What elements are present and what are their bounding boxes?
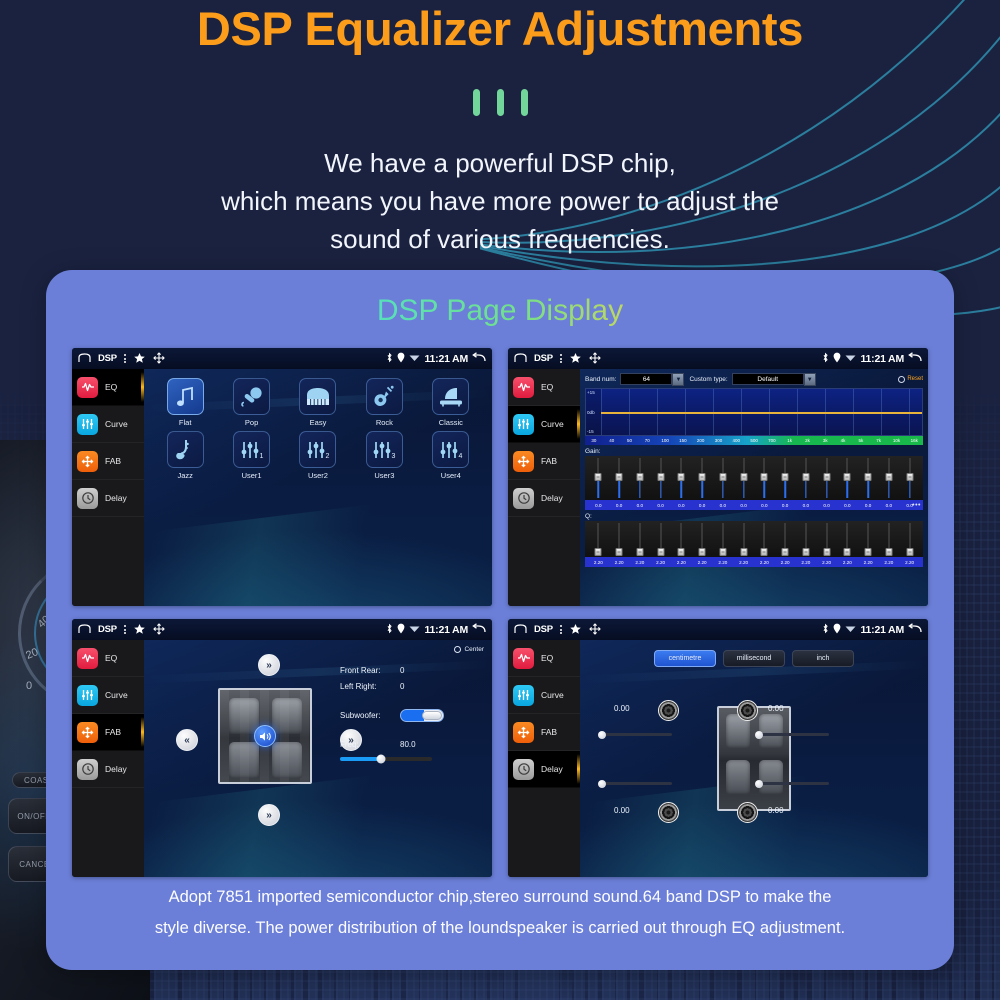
slider-knob[interactable]: [657, 548, 664, 556]
freq-tick-50: 50: [621, 438, 639, 443]
location-icon: [397, 623, 405, 636]
sidebar-item-eq[interactable]: EQ: [72, 640, 144, 677]
slider-knob[interactable]: [782, 548, 789, 556]
gain-section-label: Gain:: [585, 448, 923, 455]
freq-slider[interactable]: [340, 757, 432, 761]
building: [784, 970, 794, 1000]
freq-slider-wrap: [340, 757, 444, 761]
gain-value-8: 0.0: [733, 503, 754, 508]
q-slider-2[interactable]: [609, 521, 630, 557]
app-name-label: DSP: [98, 624, 117, 635]
q-value-14: 2.20: [858, 560, 879, 565]
left-right-label: Left Right:: [340, 682, 394, 691]
building: [560, 972, 572, 1000]
q-value-4: 2.20: [650, 560, 671, 565]
status-bar-left: DSP: [78, 352, 165, 366]
chevron-down-icon[interactable]: ▼: [804, 373, 816, 386]
car-cabin-diagram[interactable]: [218, 688, 312, 784]
equalizer-wave-icon: [77, 377, 98, 398]
overflow-menu-icon[interactable]: [124, 625, 126, 634]
gain-slider-16[interactable]: [899, 456, 920, 500]
slider-knob[interactable]: [595, 548, 602, 556]
star-icon[interactable]: [133, 623, 146, 637]
sidebar-label-eq: EQ: [541, 382, 553, 392]
divider-bar-3: [521, 89, 528, 116]
unit-tab-centimetre[interactable]: centimetre: [654, 650, 716, 667]
gain-slider-13[interactable]: [837, 456, 858, 500]
back-icon[interactable]: [908, 623, 922, 636]
four-arrows-icon: [77, 451, 98, 472]
gain-value-1: 0.0: [588, 503, 609, 508]
curve-toolbar: Band num: 64 ▼ Custom type: Default ▼: [585, 373, 923, 385]
device-screen-curve: DSP: [508, 348, 928, 606]
sliders-1-icon: 1: [233, 431, 270, 468]
sidebar-item-fab[interactable]: FAB: [508, 443, 580, 480]
preset-user3[interactable]: 3 User3: [366, 431, 403, 480]
gain-overflow-indicator[interactable]: •••: [912, 502, 921, 509]
left-right-value: 0: [400, 682, 404, 691]
gain-value-7: 0.0: [713, 503, 734, 508]
home-icon[interactable]: [78, 353, 91, 365]
app-name-label: DSP: [534, 353, 553, 364]
sidebar-label-fab: FAB: [541, 727, 557, 737]
q-value-13: 2.20: [837, 560, 858, 565]
band-num-select[interactable]: 64 ▼: [620, 373, 672, 385]
freq-tick-70: 70: [638, 438, 656, 443]
status-bar: DSP: [508, 619, 928, 640]
seat-rear-left: [229, 742, 259, 778]
center-button[interactable]: Center: [454, 646, 484, 653]
slider-knob[interactable]: [598, 731, 606, 739]
slider-knob[interactable]: [616, 473, 623, 481]
gain-slider-14[interactable]: [858, 456, 879, 500]
q-slider-9[interactable]: [754, 521, 775, 557]
bluetooth-icon: [386, 352, 393, 365]
slider-knob[interactable]: [823, 548, 830, 556]
building: [966, 877, 975, 1000]
slider-knob[interactable]: [844, 548, 851, 556]
preset-pop[interactable]: Pop: [233, 378, 270, 427]
seat-rear-right: [272, 742, 302, 778]
gain-slider-1[interactable]: [588, 456, 609, 500]
slider-knob[interactable]: [719, 548, 726, 556]
gain-slider-8[interactable]: [733, 456, 754, 500]
up-chevron-icon[interactable]: »: [258, 654, 280, 676]
sidebar-item-eq[interactable]: EQ: [508, 369, 580, 406]
back-icon[interactable]: [472, 352, 486, 365]
slider-knob[interactable]: [865, 473, 872, 481]
slider-knob[interactable]: [678, 473, 685, 481]
status-bar-left: DSP: [78, 623, 165, 637]
down-chevron-icon[interactable]: »: [258, 804, 280, 826]
eq-response-graph: +15 0db -15: [585, 388, 923, 436]
subtitle-line-1: We have a powerful DSP chip,: [0, 144, 1000, 182]
building: [994, 854, 1000, 1000]
slider-knob[interactable]: [719, 473, 726, 481]
gain-slider-4[interactable]: [650, 456, 671, 500]
status-bar: DSP: [72, 619, 492, 640]
preset-rock[interactable]: Rock: [366, 378, 403, 427]
center-circle-icon: [454, 646, 461, 653]
freq-tick-16k: 16k: [905, 438, 923, 443]
q-slider-7[interactable]: [713, 521, 734, 557]
preset-grid: Flat Pop Easy: [144, 369, 492, 480]
delay-slider-rear-right[interactable]: [755, 782, 829, 785]
sidebar-item-delay[interactable]: Delay: [72, 751, 144, 788]
slider-knob[interactable]: [740, 473, 747, 481]
sidebar-item-fab[interactable]: FAB: [508, 714, 580, 751]
eq-preset-area: Flat Pop Easy: [144, 369, 492, 606]
delay-value-rear-left: 0.00: [614, 806, 630, 815]
q-slider-3[interactable]: [630, 521, 651, 557]
sidebar-item-eq[interactable]: EQ: [72, 369, 144, 406]
slider-knob[interactable]: [740, 548, 747, 556]
fab-area: Center » » « »: [144, 640, 492, 877]
slider-knob[interactable]: [616, 548, 623, 556]
y-tick-min: -15: [587, 429, 601, 434]
gain-value-12: 0.0: [816, 503, 837, 508]
sidebar-item-curve[interactable]: Curve: [508, 406, 580, 443]
custom-type-select[interactable]: Default ▼: [732, 373, 804, 385]
slider-knob[interactable]: [636, 473, 643, 481]
home-icon[interactable]: [514, 353, 527, 365]
preset-jazz[interactable]: Jazz: [167, 431, 204, 480]
status-bar-right: 11:21 AM: [822, 352, 922, 365]
zero-db-curve-line: [601, 412, 922, 414]
back-icon[interactable]: [908, 352, 922, 365]
subtitle-line-3: sound of various frequencies.: [0, 220, 1000, 258]
guitar-icon: [366, 378, 403, 415]
freq-tick-3k: 3k: [816, 438, 834, 443]
slider-knob[interactable]: [699, 548, 706, 556]
preset-label-user4: User4: [441, 471, 461, 480]
q-slider-15[interactable]: [879, 521, 900, 557]
sidebar-item-fab[interactable]: FAB: [72, 714, 144, 751]
gain-value-2: 0.0: [609, 503, 630, 508]
gain-slider-10[interactable]: [775, 456, 796, 500]
sidebar-item-curve[interactable]: Curve: [72, 406, 144, 443]
delay-value-rear-right: 0.00: [768, 806, 784, 815]
sidebar-item-delay[interactable]: Delay: [508, 751, 580, 788]
unit-tab-inch[interactable]: inch: [792, 650, 854, 667]
q-value-7: 2.20: [713, 560, 734, 565]
sidebar-item-delay[interactable]: Delay: [72, 480, 144, 517]
microphone-icon: [233, 378, 270, 415]
sidebar-item-fab[interactable]: FAB: [72, 443, 144, 480]
freq-tick-7k: 7k: [870, 438, 888, 443]
gain-slider-2[interactable]: [609, 456, 630, 500]
preset-label-jazz: Jazz: [177, 471, 192, 480]
q-value-10: 2.20: [775, 560, 796, 565]
reset-label: Reset: [907, 376, 923, 382]
gain-slider-11[interactable]: [796, 456, 817, 500]
delay-slider-front-left[interactable]: [598, 733, 672, 736]
slider-knob[interactable]: [802, 548, 809, 556]
slider-knob[interactable]: [761, 473, 768, 481]
star-icon[interactable]: [569, 352, 582, 366]
graph-plot-area[interactable]: [601, 389, 922, 435]
sliders-icon: [77, 414, 98, 435]
preset-label-user3: User3: [374, 471, 394, 480]
slider-knob[interactable]: [844, 473, 851, 481]
slider-knob[interactable]: [802, 473, 809, 481]
status-bar-right: 11:21 AM: [386, 352, 486, 365]
gain-slider-5[interactable]: [671, 456, 692, 500]
q-slider-4[interactable]: [650, 521, 671, 557]
location-icon: [833, 352, 841, 365]
speaker-front-right-icon[interactable]: [737, 700, 758, 721]
delay-slider-rear-left[interactable]: [598, 782, 672, 785]
clock-icon: [513, 759, 534, 780]
freq-tick-300: 300: [710, 438, 728, 443]
reset-button[interactable]: Reset: [898, 376, 923, 383]
left-chevron-icon[interactable]: «: [176, 729, 198, 751]
sidebar-label-curve: Curve: [541, 690, 564, 700]
back-icon[interactable]: [472, 623, 486, 636]
q-values-bar: 2.202.202.202.202.202.202.202.202.202.20…: [585, 557, 923, 567]
sidebar-label-curve: Curve: [105, 419, 128, 429]
freq-tick-40: 40: [603, 438, 621, 443]
device-screen-delay: DSP: [508, 619, 928, 877]
slider-knob[interactable]: [823, 473, 830, 481]
gain-slider-15[interactable]: [879, 456, 900, 500]
sidebar-label-fab: FAB: [541, 456, 557, 466]
freq-slider-knob[interactable]: [377, 755, 386, 764]
frequency-axis: 304050701001502003004005007001k2k3k4k5k7…: [585, 436, 923, 445]
q-slider-11[interactable]: [796, 521, 817, 557]
screen-body: EQ Curve FAB: [508, 369, 928, 606]
chevron-down-icon[interactable]: ▼: [672, 373, 684, 386]
speaker-icon[interactable]: [254, 725, 276, 747]
move-icon[interactable]: [589, 352, 601, 366]
panel-title: DSP Page Display: [46, 270, 954, 328]
slider-knob[interactable]: [906, 473, 913, 481]
gain-slider-6[interactable]: [692, 456, 713, 500]
four-arrows-icon: [77, 722, 98, 743]
q-slider-10[interactable]: [775, 521, 796, 557]
sidebar-label-delay: Delay: [105, 764, 127, 774]
subwoofer-toggle[interactable]: [400, 709, 444, 722]
sidebar-item-curve[interactable]: Curve: [72, 677, 144, 714]
screen-body: EQ Curve FAB: [72, 369, 492, 606]
preset-easy[interactable]: Easy: [299, 378, 336, 427]
home-icon[interactable]: [78, 624, 91, 636]
gain-value-6: 0.0: [692, 503, 713, 508]
sidebar-item-eq[interactable]: EQ: [508, 640, 580, 677]
sidebar-label-fab: FAB: [105, 727, 121, 737]
star-icon[interactable]: [569, 623, 582, 637]
preset-flat[interactable]: Flat: [167, 378, 204, 427]
sliders-3-icon: 3: [366, 431, 403, 468]
app-name-label: DSP: [98, 353, 117, 364]
delay-value-front-right: 0.00: [768, 704, 784, 713]
divider-bar-1: [473, 89, 480, 116]
unit-tab-millisecond[interactable]: millisecond: [723, 650, 785, 667]
freq-tick-10k: 10k: [888, 438, 906, 443]
device-screen-eq: DSP: [72, 348, 492, 606]
home-icon[interactable]: [514, 624, 527, 636]
overflow-menu-icon[interactable]: [124, 354, 126, 363]
status-bar: DSP: [508, 348, 928, 369]
q-slider-13[interactable]: [837, 521, 858, 557]
device-screen-fab: DSP: [72, 619, 492, 877]
freq-tick-100: 100: [656, 438, 674, 443]
preset-user4[interactable]: 4 User4: [432, 431, 469, 480]
gain-value-15: 0.0: [879, 503, 900, 508]
overflow-menu-icon[interactable]: [560, 354, 562, 363]
status-bar-right: 11:21 AM: [822, 623, 922, 636]
delay-area: centimetre millisecond inch: [580, 640, 928, 877]
freq-tick-700: 700: [763, 438, 781, 443]
gauge-number-0: 0: [26, 680, 32, 692]
sidebar-item-curve[interactable]: Curve: [508, 677, 580, 714]
slider-knob[interactable]: [865, 548, 872, 556]
slider-knob[interactable]: [782, 473, 789, 481]
q-slider-12[interactable]: [816, 521, 837, 557]
delay-value-front-left: 0.00: [614, 704, 630, 713]
speaker-rear-right-icon[interactable]: [737, 802, 758, 823]
move-icon[interactable]: [589, 623, 601, 637]
freq-tick-30: 30: [585, 438, 603, 443]
seat-front-right: [272, 698, 302, 734]
delay-slider-front-right[interactable]: [755, 733, 829, 736]
slider-knob[interactable]: [906, 548, 913, 556]
preset-user1[interactable]: 1 User1: [233, 431, 270, 480]
gain-value-5: 0.0: [671, 503, 692, 508]
sliders-icon: [513, 414, 534, 435]
building: [980, 879, 992, 1000]
wifi-icon: [409, 624, 420, 635]
q-value-2: 2.20: [609, 560, 630, 565]
band-num-value: 64: [643, 376, 650, 383]
equalizer-wave-icon: [513, 377, 534, 398]
q-slider-1[interactable]: [588, 521, 609, 557]
q-sliders: [585, 521, 923, 557]
seat-front-left: [229, 698, 259, 734]
saxophone-icon: [167, 431, 204, 468]
preset-label-classic: Classic: [439, 418, 463, 427]
svg-text:2: 2: [325, 453, 329, 460]
page-header: DSP Equalizer Adjustments We have a powe…: [0, 0, 1000, 258]
gain-value-10: 0.0: [775, 503, 796, 508]
seat-front-right: [759, 714, 783, 748]
slider-knob[interactable]: [699, 473, 706, 481]
sidebar-label-fab: FAB: [105, 456, 121, 466]
slider-knob[interactable]: [636, 548, 643, 556]
sidebar-label-delay: Delay: [105, 493, 127, 503]
divider-bar-2: [497, 89, 504, 116]
svg-text:4: 4: [458, 453, 462, 460]
curve-area: Band num: 64 ▼ Custom type: Default ▼: [580, 369, 928, 606]
left-right-row: Left Right: 0: [340, 682, 444, 691]
building: [910, 975, 920, 1000]
clock-icon: [77, 488, 98, 509]
slider-knob[interactable]: [755, 731, 763, 739]
q-slider-6[interactable]: [692, 521, 713, 557]
freq-tick-4k: 4k: [834, 438, 852, 443]
overflow-menu-icon[interactable]: [560, 625, 562, 634]
gain-slider-3[interactable]: [630, 456, 651, 500]
four-arrows-icon: [513, 722, 534, 743]
curve-controls: Band num: 64 ▼ Custom type: Default ▼: [580, 369, 928, 606]
move-icon[interactable]: [153, 352, 165, 366]
slider-knob[interactable]: [678, 548, 685, 556]
clock-time: 11:21 AM: [860, 624, 904, 636]
sidebar-label-curve: Curve: [541, 419, 564, 429]
gain-sliders: [585, 456, 923, 500]
gain-value-11: 0.0: [796, 503, 817, 508]
speaker-rear-left-icon[interactable]: [658, 802, 679, 823]
subwoofer-row: Subwoofer:: [340, 709, 444, 722]
gain-slider-9[interactable]: [754, 456, 775, 500]
preset-label-user2: User2: [308, 471, 328, 480]
sidebar-item-delay[interactable]: Delay: [508, 480, 580, 517]
fab-readouts: Front Rear: 0 Left Right: 0 Subwoofer:: [340, 666, 444, 761]
building: [798, 972, 807, 1000]
gain-value-3: 0.0: [630, 503, 651, 508]
sliders-icon: [513, 685, 534, 706]
gain-value-13: 0.0: [837, 503, 858, 508]
clock-icon: [77, 759, 98, 780]
freq-tick-500: 500: [745, 438, 763, 443]
building: [840, 968, 852, 1000]
piano-icon: [299, 378, 336, 415]
preset-label-classic-rock: Rock: [376, 418, 393, 427]
preset-user2[interactable]: 2 User2: [299, 431, 336, 480]
slider-knob[interactable]: [595, 473, 602, 481]
q-slider-16[interactable]: [899, 521, 920, 557]
move-icon[interactable]: [153, 623, 165, 637]
speaker-front-left-icon[interactable]: [658, 700, 679, 721]
q-slider-14[interactable]: [858, 521, 879, 557]
wifi-icon: [409, 353, 420, 364]
gain-value-9: 0.0: [754, 503, 775, 508]
slider-knob[interactable]: [657, 473, 664, 481]
freq-tick-150: 150: [674, 438, 692, 443]
slider-knob[interactable]: [885, 473, 892, 481]
page-subtitle: We have a powerful DSP chip, which means…: [0, 144, 1000, 258]
preset-label-user1: User1: [242, 471, 262, 480]
page-title: DSP Equalizer Adjustments: [0, 0, 1000, 56]
sidebar-label-eq: EQ: [105, 653, 117, 663]
freq-tick-1k: 1k: [781, 438, 799, 443]
preset-classic[interactable]: Classic: [432, 378, 469, 427]
freq-tick-5k: 5k: [852, 438, 870, 443]
gain-values-bar: 0.00.00.00.00.00.00.00.00.00.00.00.00.00…: [585, 500, 923, 510]
slider-knob[interactable]: [761, 548, 768, 556]
panel-footer: Adopt 7851 imported semiconductor chip,s…: [86, 882, 914, 944]
q-value-11: 2.20: [796, 560, 817, 565]
slider-knob[interactable]: [598, 780, 606, 788]
screen-body: EQ Curve FAB: [508, 640, 928, 877]
slider-knob[interactable]: [755, 780, 763, 788]
unit-tab-group: centimetre millisecond inch: [580, 640, 928, 667]
gain-slider-7[interactable]: [713, 456, 734, 500]
seat-rear-left: [726, 760, 750, 794]
freq-value: 80.0: [400, 740, 416, 749]
q-slider-5[interactable]: [671, 521, 692, 557]
bluetooth-icon: [386, 623, 393, 636]
star-icon[interactable]: [133, 352, 146, 366]
q-slider-8[interactable]: [733, 521, 754, 557]
freq-tick-400: 400: [727, 438, 745, 443]
gain-slider-12[interactable]: [816, 456, 837, 500]
sidebar-label-eq: EQ: [105, 382, 117, 392]
footer-line-2: style diverse. The power distribution of…: [86, 913, 914, 944]
sliders-2-icon: 2: [299, 431, 336, 468]
slider-knob[interactable]: [885, 548, 892, 556]
gain-value-4: 0.0: [650, 503, 671, 508]
